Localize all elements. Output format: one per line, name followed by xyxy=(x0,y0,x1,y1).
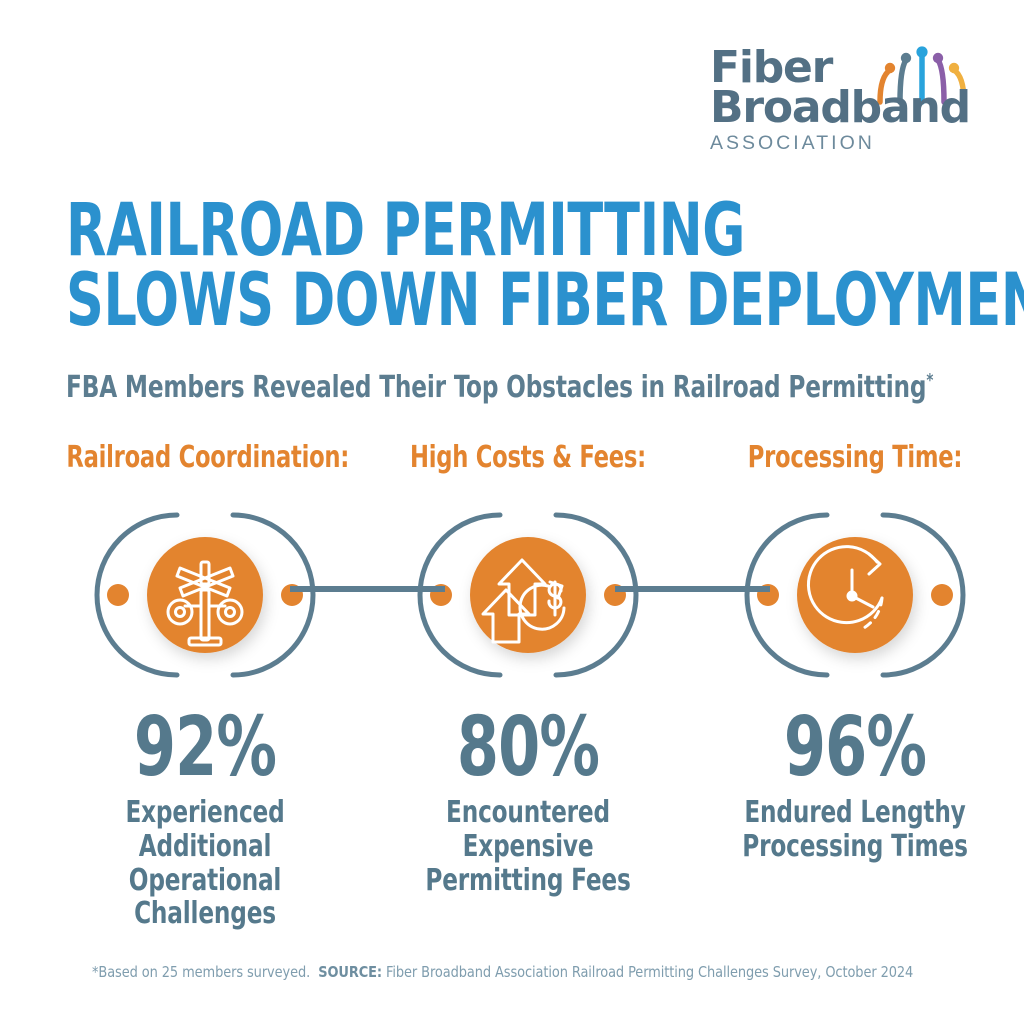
logo-wordmark: Fiber Broadband ASSOCIATION xyxy=(710,48,972,155)
stat-value-2: 80% xyxy=(393,708,664,788)
stat-label-1: Experienced Additional Operational Chall… xyxy=(63,796,347,930)
stat-block-2: 80% Encountered Expensive Permitting Fee… xyxy=(363,708,693,897)
subtitle: FBA Members Revealed Their Top Obstacles… xyxy=(66,370,933,405)
footnote-source: *Based on 25 members surveyed. SOURCE: F… xyxy=(92,963,913,981)
obstacles-section: Railroad Coordination: xyxy=(0,440,1024,920)
icon-node-1 xyxy=(40,490,370,700)
connector-line-2 xyxy=(615,586,770,592)
obstacle-column-railroad-coordination: Railroad Coordination: xyxy=(40,440,370,700)
obstacle-column-processing-time: Processing Time: xyxy=(690,440,1020,700)
subtitle-asterisk: * xyxy=(926,371,933,391)
footnote-source-label: SOURCE: xyxy=(318,963,382,981)
stat-label-3: Endured Lengthy Processing Times xyxy=(713,796,997,863)
rising-cost-dollar-icon xyxy=(363,490,693,700)
icon-node-3 xyxy=(690,490,1020,700)
clock-delay-icon xyxy=(690,490,1020,700)
page-title: RAILROAD PERMITTING SLOWS DOWN FIBER DEP… xyxy=(66,196,986,336)
connector-line-1 xyxy=(290,586,445,592)
subtitle-text: FBA Members Revealed Their Top Obstacles… xyxy=(66,370,926,405)
obstacle-column-high-costs-fees: High Costs & Fees: xyxy=(363,440,693,700)
column-title-2: High Costs & Fees: xyxy=(389,440,666,476)
railroad-crossing-sign-icon xyxy=(40,490,370,700)
stat-value-1: 92% xyxy=(70,708,341,788)
stat-block-1: 92% Experienced Additional Operational C… xyxy=(40,708,370,931)
column-title-1: Railroad Coordination: xyxy=(66,440,343,476)
footnote-basis: *Based on 25 members surveyed. xyxy=(92,963,310,981)
stat-label-2: Encountered Expensive Permitting Fees xyxy=(386,796,670,897)
stat-block-3: 96% Endured Lengthy Processing Times xyxy=(690,708,1020,864)
icon-node-2 xyxy=(363,490,693,700)
headline-line-2: SLOWS DOWN FIBER DEPLOYMENTS xyxy=(66,266,802,336)
column-title-3: Processing Time: xyxy=(716,440,993,476)
logo-line-association: ASSOCIATION xyxy=(710,132,972,155)
infographic-canvas: Fiber Broadband ASSOCIATION RAILROAD PER… xyxy=(0,0,1024,1024)
stat-value-3: 96% xyxy=(720,708,991,788)
footnote-source-text: Fiber Broadband Association Railroad Per… xyxy=(386,963,913,981)
headline-line-1: RAILROAD PERMITTING xyxy=(66,196,802,266)
fiber-broadband-association-logo: Fiber Broadband ASSOCIATION xyxy=(710,48,972,170)
logo-line-broadband: Broadband xyxy=(710,88,972,128)
